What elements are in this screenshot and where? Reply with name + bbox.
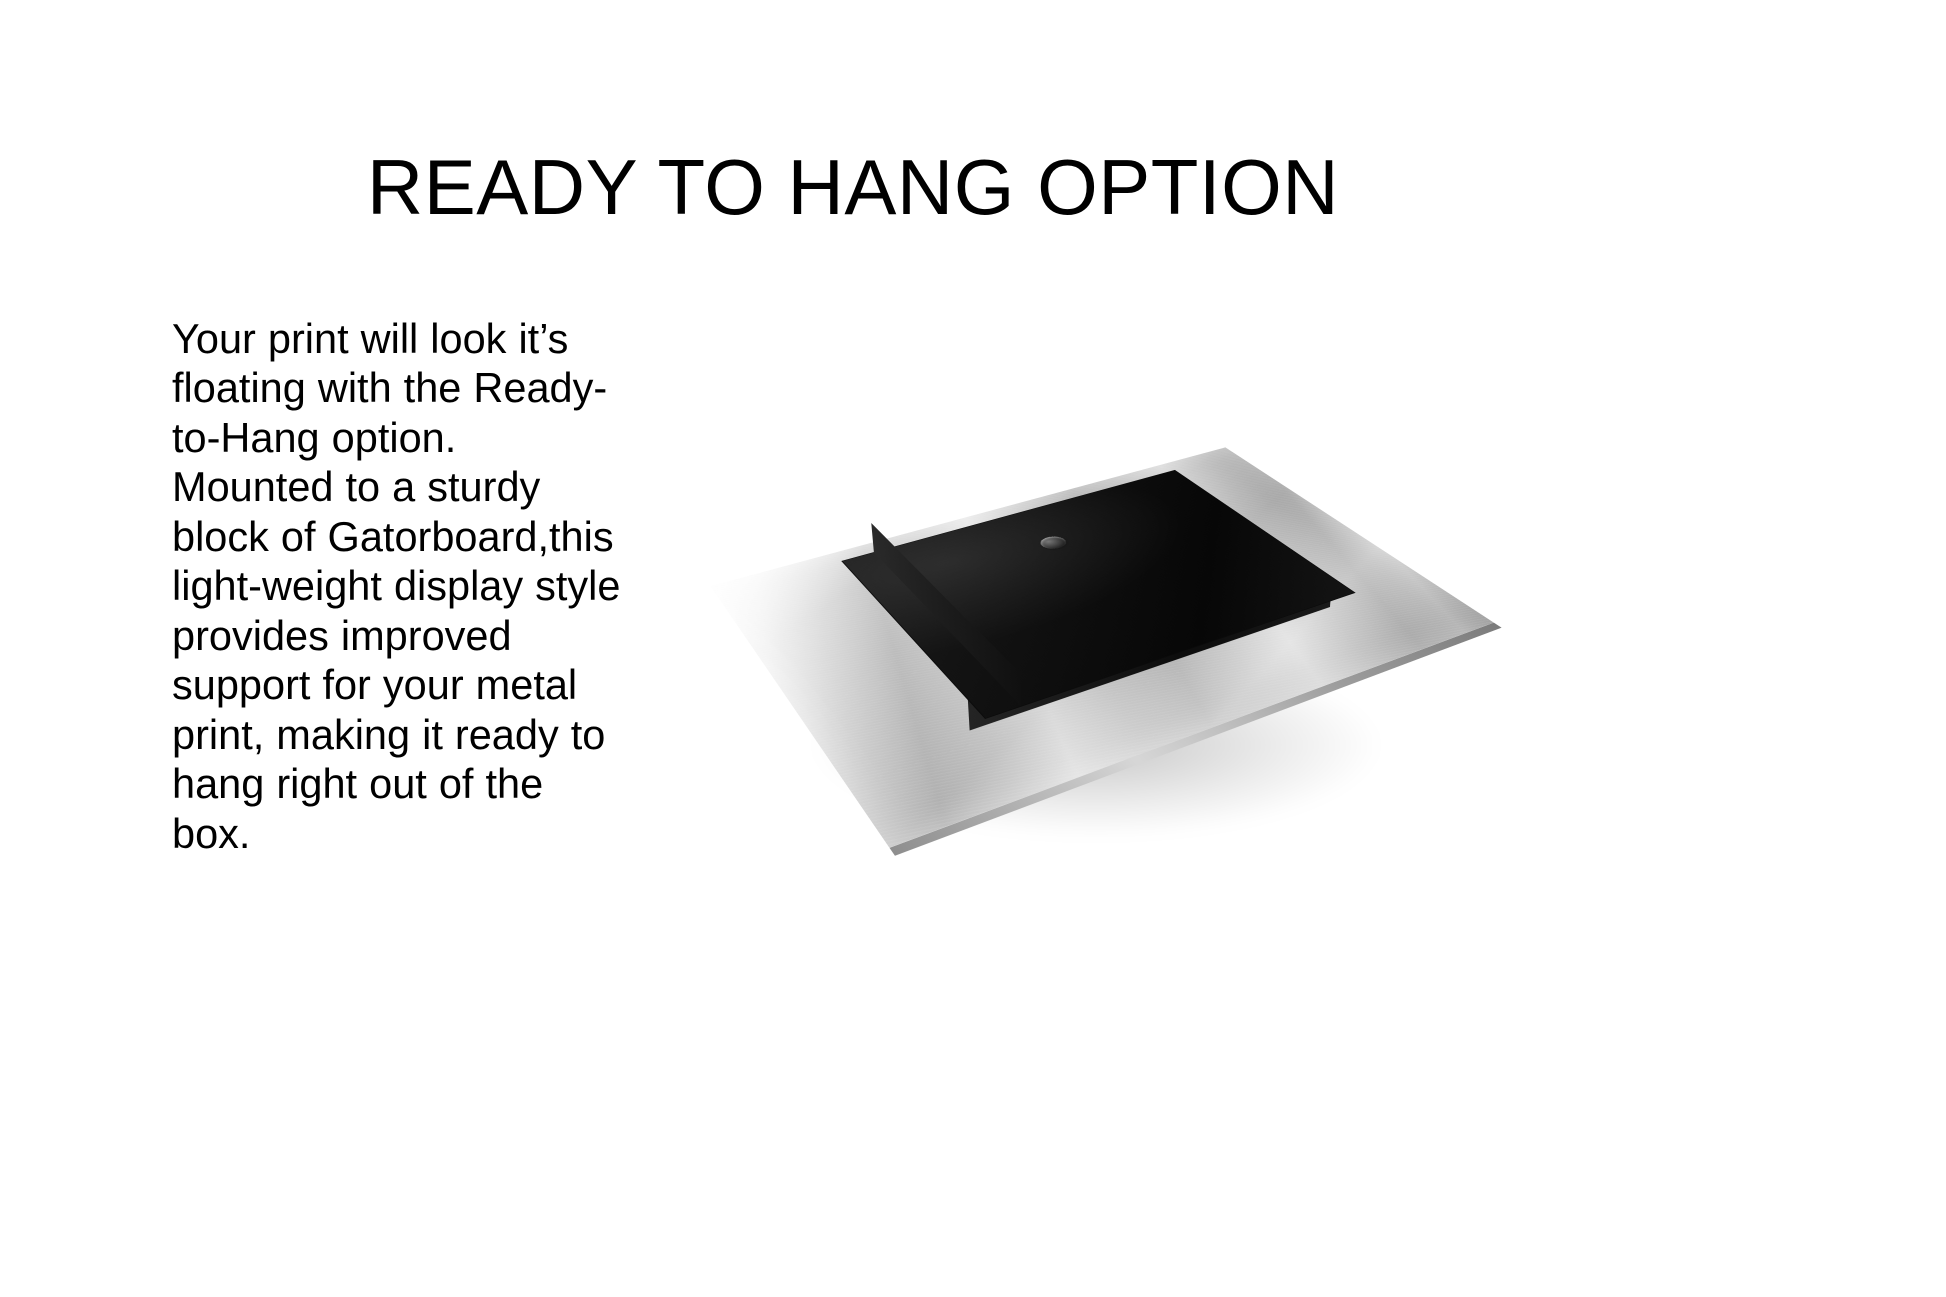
presentation-slide: READY TO HANG OPTION Your print will loo… <box>0 0 1946 1297</box>
hanging-hole-icon <box>1036 534 1070 551</box>
product-photo <box>666 355 1546 855</box>
page-title: READY TO HANG OPTION <box>0 148 1946 226</box>
body-paragraph: Your print will look it’s floating with … <box>172 314 624 859</box>
product-photo-stage <box>666 355 1546 855</box>
